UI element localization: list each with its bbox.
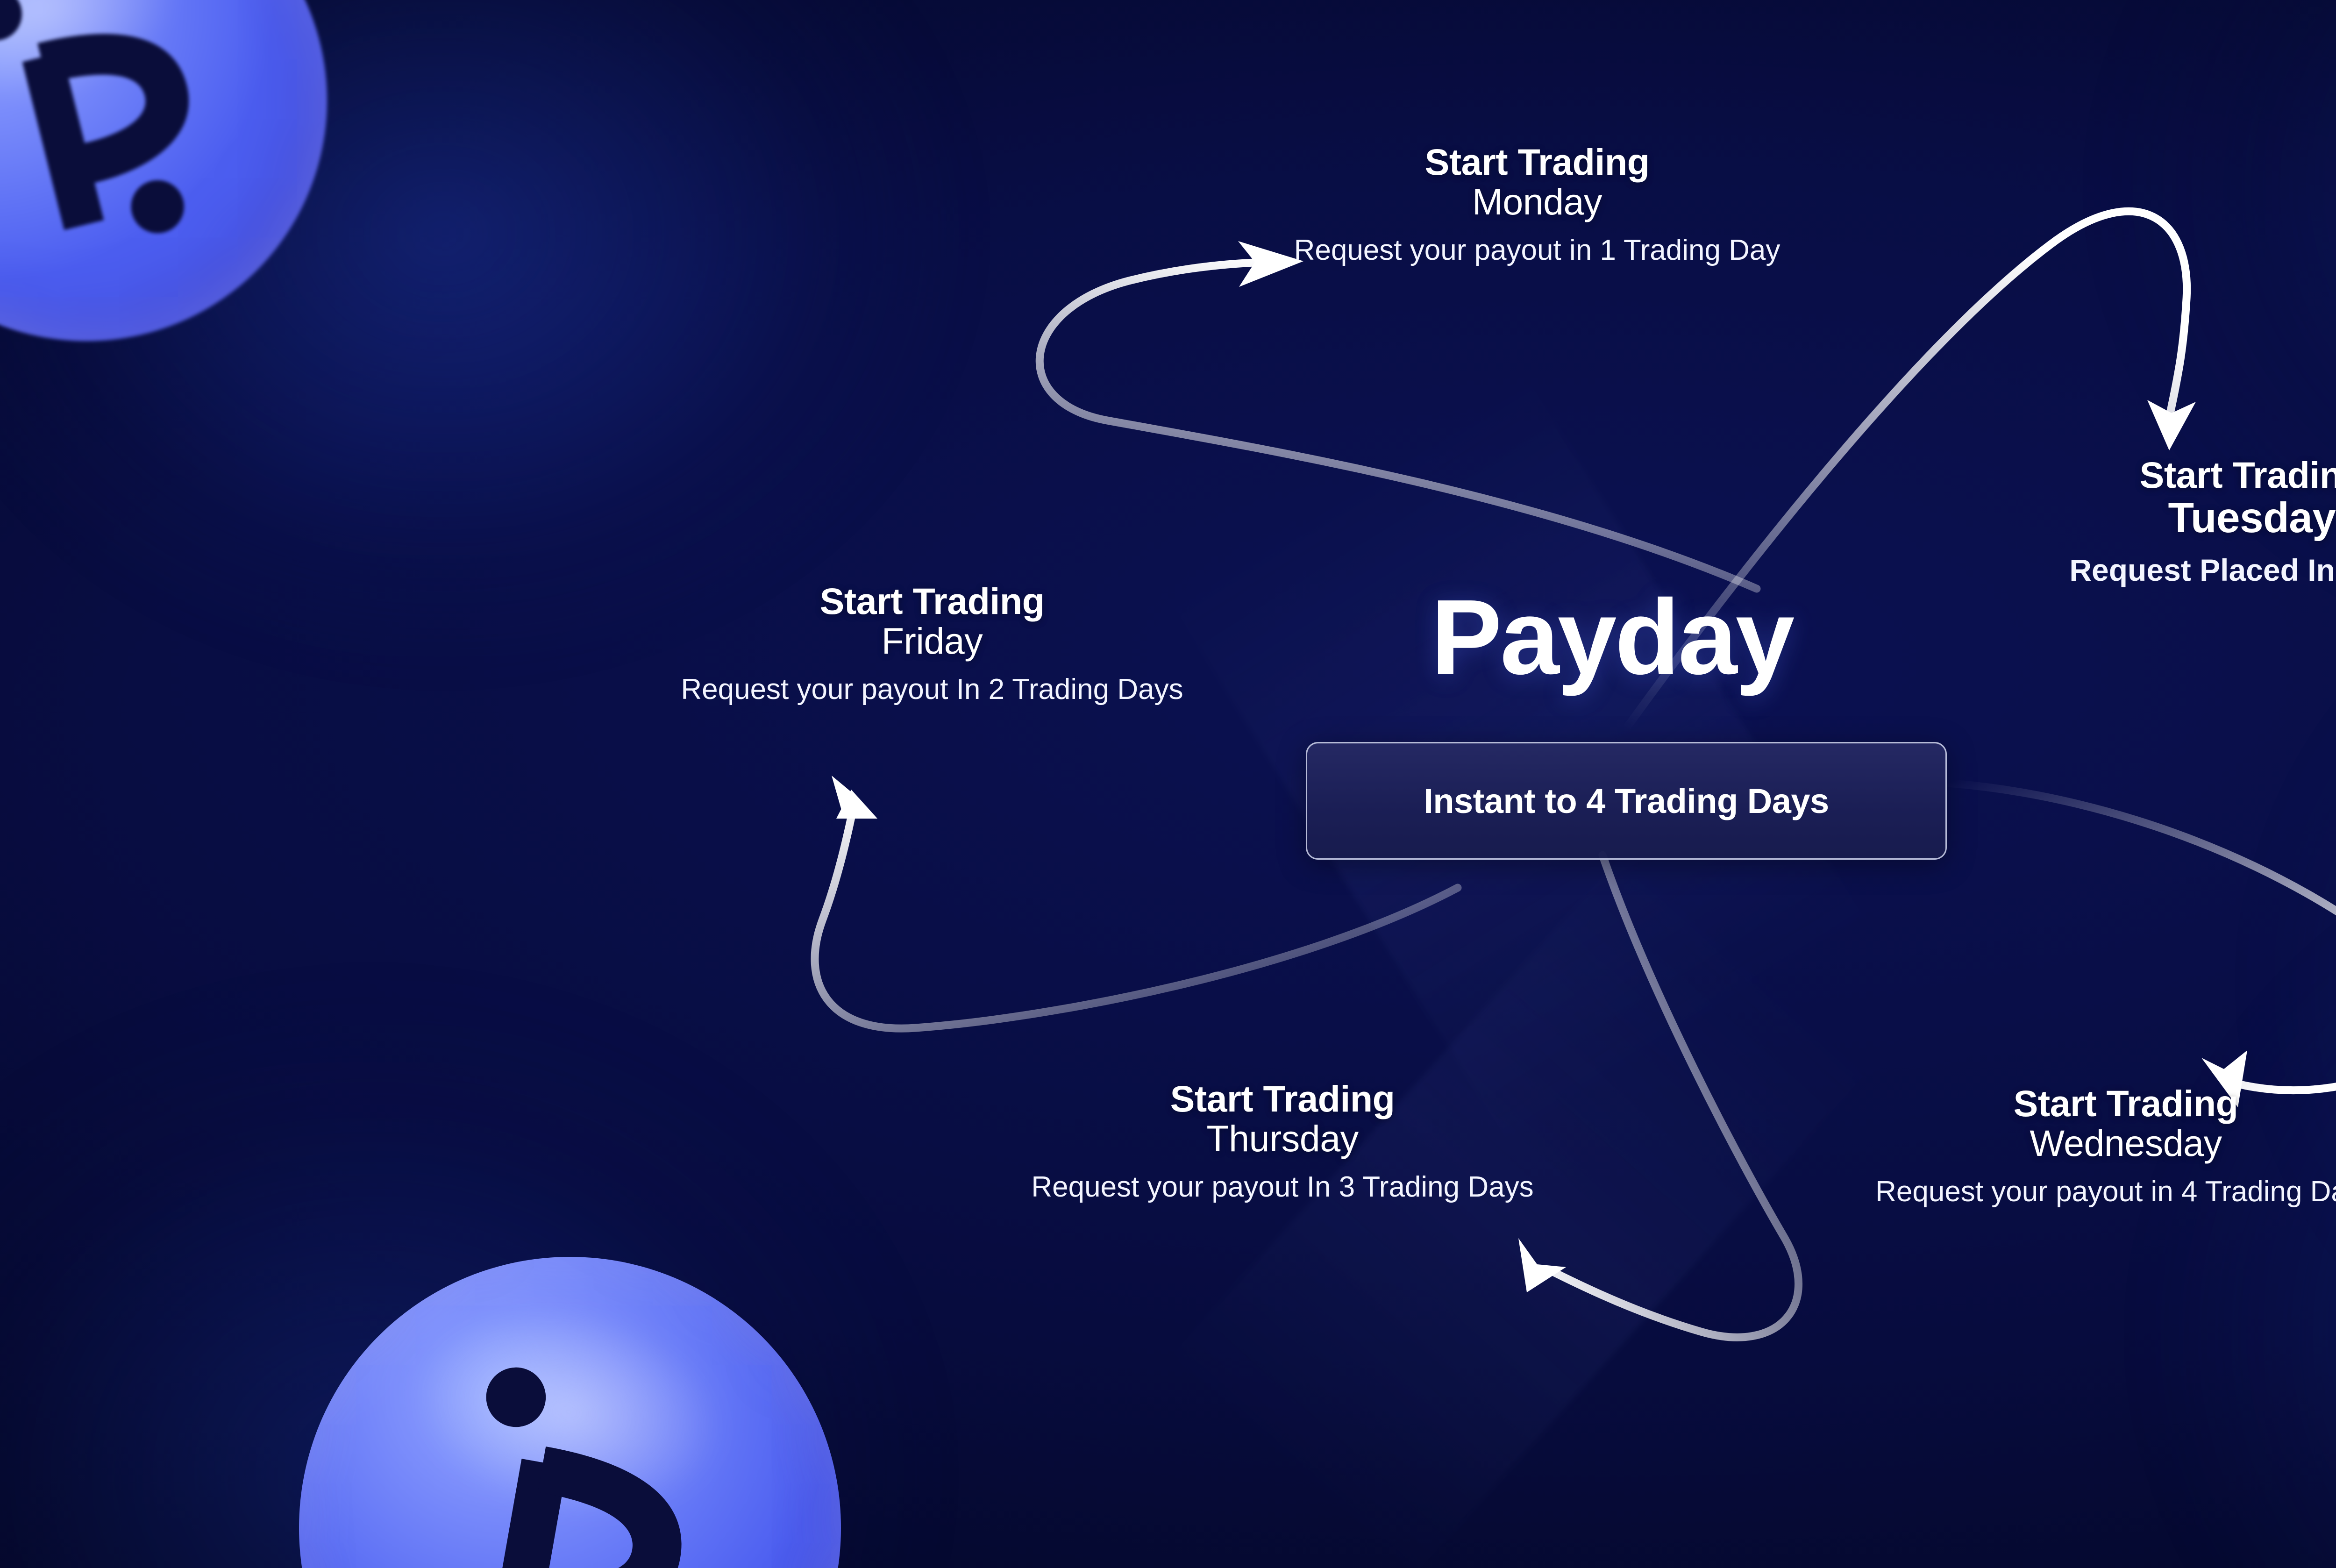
arrow-layer <box>0 0 2336 1568</box>
node-wednesday[interactable]: Start Trading Wednesday Request your pay… <box>1817 1084 2336 1208</box>
payout-cycle-diagram: Start Trading Monday Request your payout… <box>0 0 2336 1568</box>
node-thursday-day: Thursday <box>972 1119 1593 1159</box>
node-tuesday-eyebrow: Start Trading <box>1981 456 2336 495</box>
node-monday-eyebrow: Start Trading <box>1210 143 1864 182</box>
node-wednesday-eyebrow: Start Trading <box>1817 1084 2336 1123</box>
node-monday-day: Monday <box>1210 182 1864 222</box>
arrow-to-wednesday <box>1947 783 2336 1107</box>
node-tuesday[interactable]: Start Trading Tuesday Request Placed Ins… <box>1981 456 2336 588</box>
node-thursday-eyebrow: Start Trading <box>972 1079 1593 1119</box>
center-block: Payday <box>1257 584 1967 691</box>
node-friday-desc: Request your payout In 2 Trading Days <box>649 673 1215 706</box>
node-friday-eyebrow: Start Trading <box>649 582 1215 621</box>
payday-range-badge[interactable]: Instant to 4 Trading Days <box>1306 742 1947 860</box>
node-thursday-desc: Request your payout In 3 Trading Days <box>972 1170 1593 1204</box>
node-friday-day: Friday <box>649 621 1215 662</box>
page-title: Payday <box>1257 584 1967 691</box>
node-thursday[interactable]: Start Trading Thursday Request your payo… <box>972 1079 1593 1204</box>
node-monday[interactable]: Start Trading Monday Request your payout… <box>1210 143 1864 267</box>
node-tuesday-desc: Request Placed Instantly <box>1981 553 2336 588</box>
node-monday-desc: Request your payout in 1 Trading Day <box>1210 234 1864 267</box>
payday-range-badge-label: Instant to 4 Trading Days <box>1424 781 1829 821</box>
arrow-to-monday <box>1040 241 1757 589</box>
node-wednesday-day: Wednesday <box>1817 1123 2336 1164</box>
node-wednesday-desc: Request your payout in 4 Trading Days <box>1817 1175 2336 1208</box>
node-friday[interactable]: Start Trading Friday Request your payout… <box>649 582 1215 706</box>
node-tuesday-day: Tuesday <box>1981 495 2336 542</box>
